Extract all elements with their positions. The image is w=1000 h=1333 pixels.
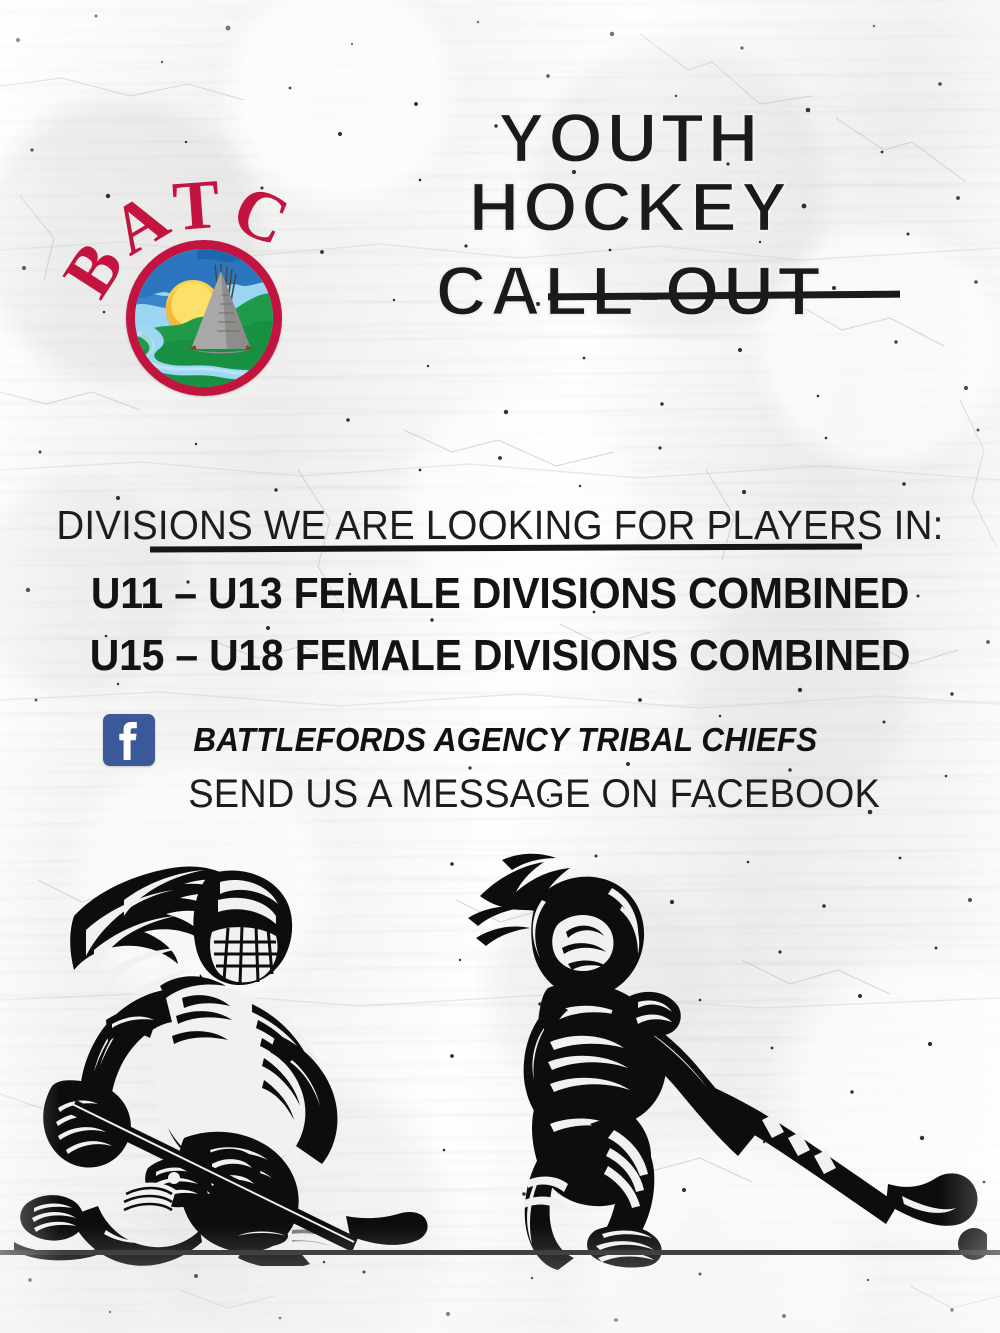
- baseline-rule: [0, 1250, 1000, 1255]
- field-hockey-player-silhouette: [462, 852, 987, 1270]
- title-line-1-text: YOUTH HOCKEY: [330, 104, 930, 241]
- facebook-page-name[interactable]: BATTLEFORDS AGENCY TRIBAL CHIEFS: [193, 721, 817, 759]
- facebook-icon[interactable]: [103, 714, 155, 766]
- facebook-call-to-action: SEND US A MESSAGE ON FACEBOOK: [188, 772, 880, 817]
- divisions-block: DIVISIONS WE ARE LOOKING FOR PLAYERS IN:…: [0, 502, 1000, 681]
- batc-logo-ring: [126, 240, 282, 396]
- ice-hockey-player-illustration: [14, 838, 434, 1266]
- divisions-heading: DIVISIONS WE ARE LOOKING FOR PLAYERS IN:: [56, 502, 943, 549]
- batc-logo-scene: [135, 249, 273, 387]
- title-line-1: YOUTH HOCKEY: [330, 104, 930, 241]
- poster-canvas: BATC: [0, 0, 1000, 1333]
- division-line-u15-u18: U15 – U18 FEMALE DIVISIONS COMBINED: [35, 631, 965, 681]
- division-line-u11-u13: U11 – U13 FEMALE DIVISIONS COMBINED: [35, 569, 965, 619]
- batc-logo: BATC: [98, 178, 316, 396]
- facebook-f-glyph: [103, 714, 155, 766]
- batc-scene-art: [135, 249, 273, 387]
- facebook-row[interactable]: BATTLEFORDS AGENCY TRIBAL CHIEFS: [103, 714, 834, 766]
